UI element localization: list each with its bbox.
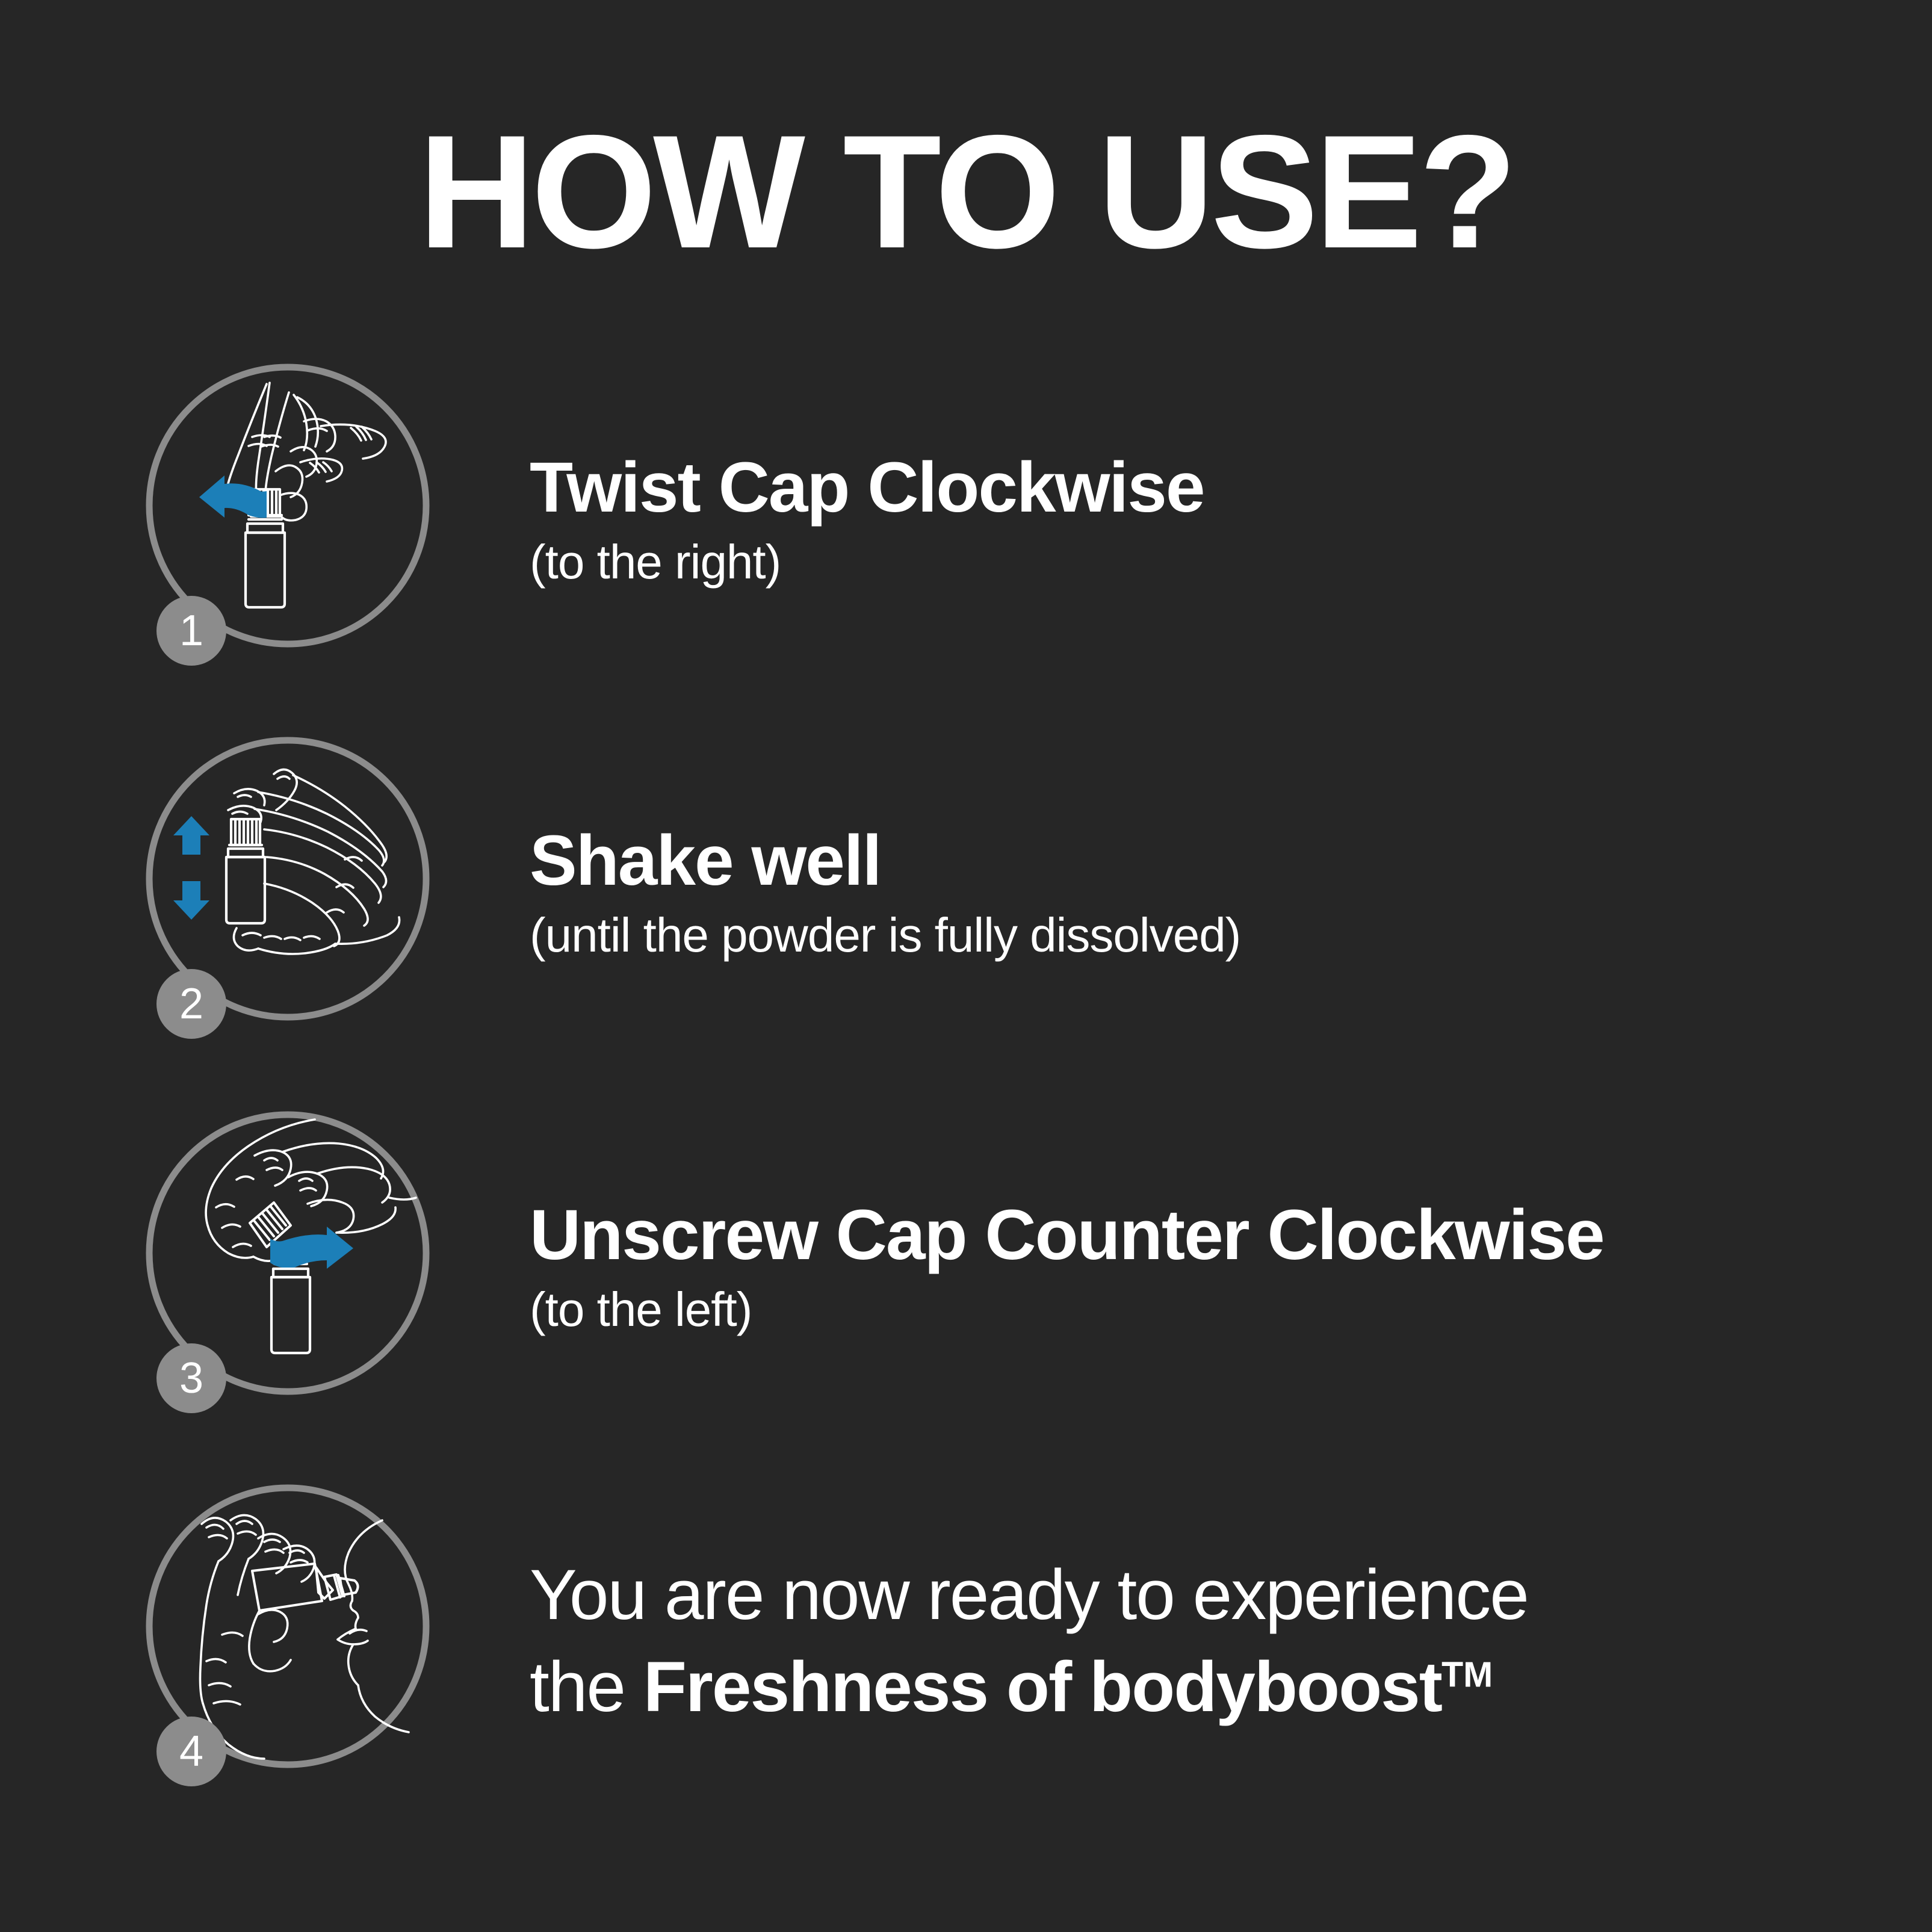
step-heading: Twist Cap Clockwise [530,448,1884,527]
step-4-illustration: 4 [146,1487,435,1806]
step-number: 2 [179,980,203,1028]
step-badge: 2 [156,969,226,1039]
step-3-text: Unscrew Cap Counter Clockwise (to the le… [530,1109,1884,1428]
step-heading-line-2: the Freshness of bodyboostTM [530,1641,1884,1733]
step-row: 3 Unscrew Cap Counter Clockwise (to the … [0,1109,1932,1446]
step-subcaption: (to the right) [530,531,1884,593]
page-title: HOW TO USE? [0,107,1932,276]
step-heading-line-1: You are now ready to experience [530,1549,1884,1641]
step-row: 4 You are now ready to experience the Fr… [0,1482,1932,1819]
step-1-illustration: 1 [146,366,435,685]
up-down-arrows-icon [173,816,209,920]
step-row: 1 Twist Cap Clockwise (to the right) [0,361,1932,698]
step-2-text: Shake well (until the powder is fully di… [530,734,1884,1053]
step-badge: 3 [156,1343,226,1413]
step-4-text: You are now ready to experience the Fres… [530,1482,1884,1801]
step-row: 2 Shake well (until the powder is fully … [0,734,1932,1071]
brand-name: Freshness of bodyboost [643,1647,1441,1727]
step-badge: 1 [156,596,226,666]
step-2-illustration: 2 [146,739,435,1058]
how-to-use-infographic: HOW TO USE? [0,0,1932,1932]
step-number: 3 [179,1354,203,1402]
step-heading: Unscrew Cap Counter Clockwise [530,1195,1884,1275]
step-heading: Shake well [530,821,1884,900]
step-badge: 4 [156,1717,226,1786]
step-1-text: Twist Cap Clockwise (to the right) [530,361,1884,680]
step-subcaption: (until the powder is fully dissolved) [530,904,1884,967]
step-number: 1 [179,607,203,655]
step-3-illustration: 3 [146,1113,435,1432]
step-subcaption: (to the left) [530,1278,1884,1341]
trademark-symbol: TM [1441,1655,1493,1695]
step-number: 4 [179,1727,203,1776]
step-heading-prefix: the [530,1647,643,1727]
